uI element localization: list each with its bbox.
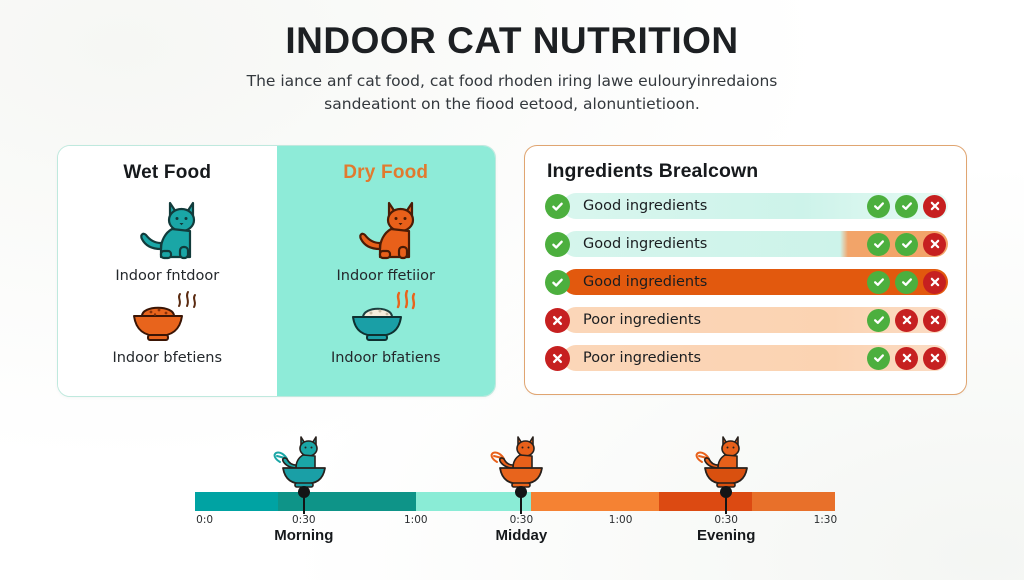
check-circle-icon [867, 233, 890, 256]
comparison-column-wet[interactable]: Wet Food [58, 146, 277, 396]
check-circle-icon [867, 347, 890, 370]
ingredient-row-marks [867, 347, 948, 370]
ingredient-row-label: Poor ingredients [583, 312, 701, 328]
feeding-timeline: MorningMiddayEvening0:00:301:000:301:000… [195, 430, 835, 560]
timeline-pin-marker[interactable] [515, 486, 527, 514]
check-circle-icon [867, 271, 890, 294]
timeline-segment [416, 492, 531, 511]
timeline-period-label: Midday [496, 527, 548, 544]
food-bowl-icon-wet [128, 286, 206, 348]
ingredient-row-marks [867, 195, 948, 218]
cross-circle-icon [923, 271, 946, 294]
column-caption-dry-cat: Indoor ffetiior [337, 268, 435, 284]
cat-in-bowl-icon [484, 430, 558, 490]
timeline-tick-label: 1:00 [609, 514, 633, 526]
check-circle-icon [867, 309, 890, 332]
comparison-column-dry[interactable]: Dry Food [277, 146, 496, 396]
timeline-tick-label: 0:0 [196, 514, 213, 526]
timeline-period-label: Morning [274, 527, 333, 544]
header: INDOOR CAT NUTRITION The iance anf cat f… [0, 22, 1024, 117]
cat-sitting-icon-wet [132, 188, 202, 266]
check-circle-icon [895, 233, 918, 256]
ingredient-row-label: Good ingredients [583, 236, 707, 252]
cross-circle-icon [923, 233, 946, 256]
check-circle-icon [545, 232, 570, 257]
check-circle-icon [867, 195, 890, 218]
column-caption-wet-bowl: Indoor bfetiens [112, 350, 222, 366]
timeline-segment [195, 492, 278, 511]
timeline-pin-marker[interactable] [720, 486, 732, 514]
ingredient-row-marks [867, 271, 948, 294]
ingredient-row-label: Poor ingredients [583, 350, 701, 366]
ingredient-row-marks [867, 309, 948, 332]
timeline-period-label: Evening [697, 527, 755, 544]
check-circle-icon [545, 194, 570, 219]
ingredient-row[interactable]: Good ingredients [545, 191, 948, 221]
infographic-canvas: INDOOR CAT NUTRITION The iance anf cat f… [0, 0, 1024, 580]
cross-circle-icon [923, 347, 946, 370]
timeline-segment [752, 492, 835, 511]
cross-circle-icon [895, 347, 918, 370]
food-bowl-icon-dry [347, 286, 425, 348]
cross-circle-icon [895, 309, 918, 332]
ingredient-row-label: Good ingredients [583, 274, 707, 290]
ingredient-row-label: Good ingredients [583, 198, 707, 214]
check-circle-icon [895, 271, 918, 294]
ingredient-row[interactable]: Good ingredients [545, 267, 948, 297]
ingredient-row[interactable]: Good ingredients [545, 229, 948, 259]
column-title-wet: Wet Food [123, 162, 211, 184]
food-comparison-card: Wet Food [57, 145, 496, 397]
check-circle-icon [545, 270, 570, 295]
column-caption-wet-cat: Indoor fntdoor [115, 268, 219, 284]
check-circle-icon [895, 195, 918, 218]
cross-circle-icon [923, 309, 946, 332]
cross-circle-icon [545, 346, 570, 371]
cat-in-bowl-icon [689, 430, 763, 490]
ingredient-row[interactable]: Poor ingredients [545, 343, 948, 373]
timeline-segment [659, 492, 752, 511]
column-title-dry: Dry Food [343, 162, 428, 184]
cross-circle-icon [923, 195, 946, 218]
ingredients-row-list: Good ingredientsGood ingredientsGood ing… [545, 191, 948, 373]
page-subtitle: The iance anf cat food, cat food rhoden … [217, 70, 807, 117]
cat-sitting-icon-dry [351, 188, 421, 266]
cat-in-bowl-icon [267, 430, 341, 490]
timeline-tick-label: 0:30 [292, 514, 316, 526]
timeline-tick-label: 1:30 [814, 514, 838, 526]
timeline-tick-label: 1:00 [404, 514, 428, 526]
ingredient-row[interactable]: Poor ingredients [545, 305, 948, 335]
ingredients-breakdown-card: Ingredients Brealcown Good ingredientsGo… [524, 145, 967, 395]
timeline-segment [531, 492, 659, 511]
ingredients-title: Ingredients Brealcown [547, 160, 948, 183]
column-caption-dry-bowl: Indoor bfatiens [331, 350, 441, 366]
ingredient-row-marks [867, 233, 948, 256]
cross-circle-icon [545, 308, 570, 333]
page-title: INDOOR CAT NUTRITION [0, 22, 1024, 61]
timeline-pin-marker[interactable] [298, 486, 310, 514]
timeline-tick-label: 0:30 [510, 514, 534, 526]
timeline-tick-label: 0:30 [714, 514, 738, 526]
